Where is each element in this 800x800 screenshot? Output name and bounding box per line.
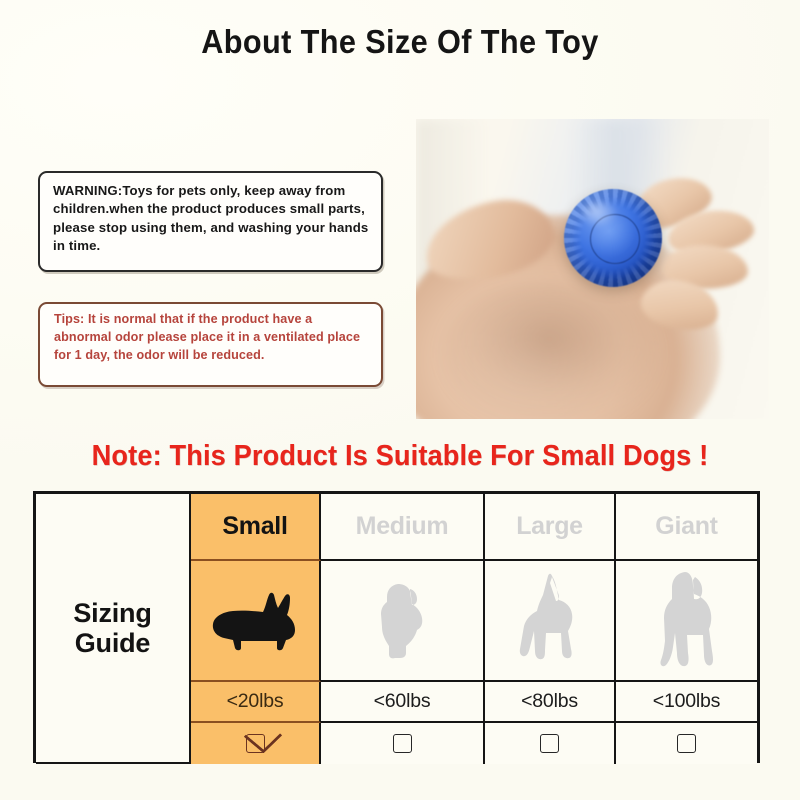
weight-cell-giant: <100lbs <box>616 682 757 723</box>
dog-silhouette-cell-medium <box>321 561 485 682</box>
size-header-giant[interactable]: Giant <box>616 494 757 561</box>
corgi-silhouette-icon <box>207 590 303 652</box>
warning-box: WARNING:Toys for pets only, keep away fr… <box>38 171 383 272</box>
weight-label-giant: <100lbs <box>653 690 720 713</box>
note-small-dogs: Note: This Product Is Suitable For Small… <box>20 440 780 473</box>
sizing-guide-label: Sizing Guide <box>36 494 191 764</box>
checkbox-giant[interactable] <box>677 734 696 753</box>
checkbox-large[interactable] <box>540 734 559 753</box>
page-title: About The Size Of The Toy <box>28 23 772 61</box>
checkbox-medium[interactable] <box>393 734 412 753</box>
dog-silhouette-cell-small <box>191 561 321 682</box>
size-header-large-label: Large <box>516 512 583 541</box>
weight-cell-medium: <60lbs <box>321 682 485 723</box>
size-header-large[interactable]: Large <box>485 494 616 561</box>
warning-text: WARNING:Toys for pets only, keep away fr… <box>53 182 375 255</box>
tips-box: Tips: It is normal that if the product h… <box>38 302 383 387</box>
weight-cell-small: <20lbs <box>191 682 321 723</box>
tips-text: Tips: It is normal that if the product h… <box>54 311 372 365</box>
weight-label-large: <80lbs <box>521 690 578 713</box>
sizing-guide-table: Sizing Guide Small Medium Large Giant <box>33 491 760 763</box>
sizing-guide-label-line1: Sizing <box>73 598 151 629</box>
select-cell-large[interactable] <box>485 723 616 764</box>
dog-silhouette-cell-large <box>485 561 616 682</box>
size-header-small-label: Small <box>222 512 287 541</box>
medium-dog-silhouette-icon <box>376 580 428 662</box>
dog-silhouette-cell-giant <box>616 561 757 682</box>
palm-shadow <box>442 279 657 419</box>
ball-highlight <box>582 201 618 227</box>
sizing-guide-label-line2: Guide <box>75 628 151 659</box>
size-header-giant-label: Giant <box>655 512 717 541</box>
select-cell-small[interactable] <box>191 723 321 764</box>
blue-ball-toy <box>564 189 662 287</box>
product-size-infographic: About The Size Of The Toy WARNING:Toys f… <box>0 0 800 800</box>
weight-label-small: <20lbs <box>227 690 284 713</box>
product-photo-hand-holding-ball <box>416 119 769 419</box>
size-header-medium[interactable]: Medium <box>321 494 485 561</box>
checkbox-small[interactable] <box>246 734 265 753</box>
size-header-small[interactable]: Small <box>191 494 321 561</box>
giant-dog-silhouette-icon <box>655 569 719 673</box>
weight-label-medium: <60lbs <box>374 690 431 713</box>
shepherd-silhouette-icon <box>517 573 583 669</box>
select-cell-medium[interactable] <box>321 723 485 764</box>
select-cell-giant[interactable] <box>616 723 757 764</box>
size-header-medium-label: Medium <box>356 512 449 541</box>
weight-cell-large: <80lbs <box>485 682 616 723</box>
